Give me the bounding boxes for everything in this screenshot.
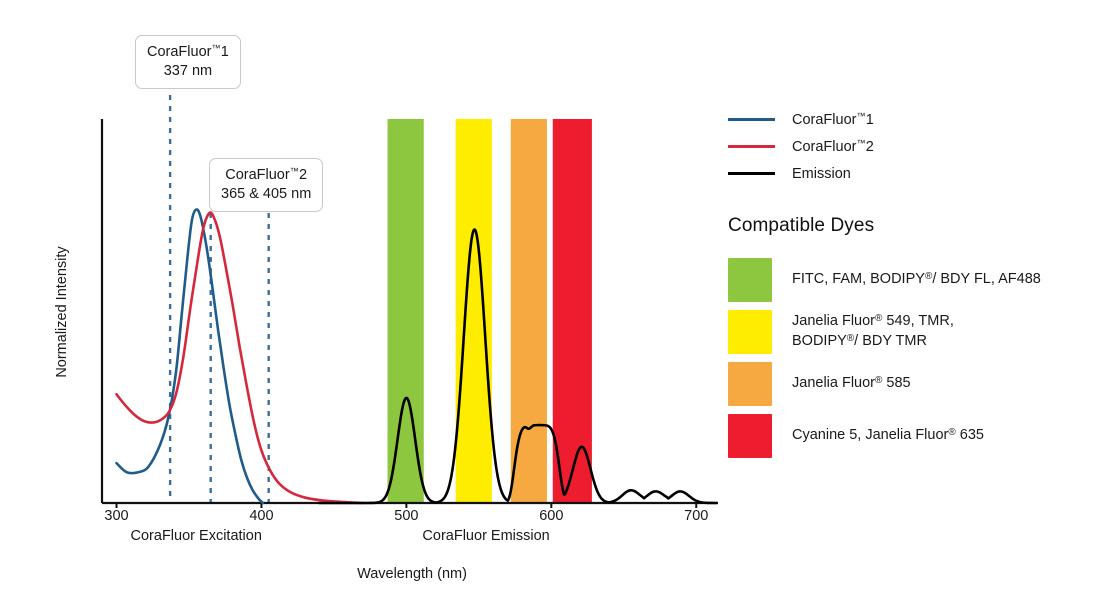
green-band [388,119,424,503]
legend-panel: CoraFluor™1CoraFluor™2Emission Compatibl… [728,106,1110,462]
legend-item-1[interactable]: CoraFluor™2 [728,133,1110,160]
dye-row-1[interactable]: Janelia Fluor® 549, TMR,BODIPY®/ BDY TMR [728,306,1110,358]
x-axis-sublabel-emission: CoraFluor Emission [422,528,549,544]
figure-root: CoraFluor™1 337 nm CoraFluor™2 365 & 405… [0,0,1110,612]
red-band [553,119,592,503]
dye-row-0[interactable]: FITC, FAM, BODIPY®/ BDY FL, AF488 [728,254,1110,306]
callout-1-line1: CoraFluor™1 [147,43,229,62]
legend-item-0[interactable]: CoraFluor™1 [728,106,1110,133]
dye-color-swatch [728,414,772,458]
orange-band [511,119,547,503]
dye-color-swatch [728,258,772,302]
trademark-mark: ™ [856,111,865,121]
dye-label-line: Janelia Fluor® 549, TMR, [792,312,954,332]
registered-mark: ® [948,427,955,438]
compatible-dyes-list: FITC, FAM, BODIPY®/ BDY FL, AF488Janelia… [728,254,1110,462]
legend-line-swatch [728,145,775,148]
x-tick-500: 500 [394,508,418,524]
compatible-dyes-heading: Compatible Dyes [728,215,1110,237]
dye-label: Janelia Fluor® 549, TMR,BODIPY®/ BDY TMR [792,312,954,351]
dye-row-2[interactable]: Janelia Fluor® 585 [728,358,1110,410]
dye-label-line: BODIPY®/ BDY TMR [792,332,954,352]
legend-line-swatch [728,118,775,121]
x-axis-sublabel-excitation: CoraFluor Excitation [131,528,262,544]
x-tick-300: 300 [104,508,128,524]
legend-item-label: Emission [792,166,851,182]
callout-1-line2: 337 nm [147,62,229,81]
legend-item-label: CoraFluor™2 [792,138,874,155]
dye-label-line: FITC, FAM, BODIPY®/ BDY FL, AF488 [792,270,1041,290]
callout-corafluor1: CoraFluor™1 337 nm [135,35,241,89]
x-tick-600: 600 [539,508,563,524]
y-axis-title: Normalized Intensity [54,246,70,377]
registered-mark: ® [875,313,882,324]
dye-label: FITC, FAM, BODIPY®/ BDY FL, AF488 [792,270,1041,290]
callout-2-line1: CoraFluor™2 [221,166,311,185]
dye-label-line: Janelia Fluor® 585 [792,374,911,394]
legend-item-2[interactable]: Emission [728,160,1110,187]
callout-corafluor2: CoraFluor™2 365 & 405 nm [209,158,323,212]
legend-item-label: CoraFluor™1 [792,111,874,128]
trademark-mark: ™ [856,138,865,148]
dye-color-swatch [728,310,772,354]
dye-row-3[interactable]: Cyanine 5, Janelia Fluor® 635 [728,410,1110,462]
dye-label-line: Cyanine 5, Janelia Fluor® 635 [792,426,984,446]
x-axis-title: Wavelength (nm) [357,566,467,582]
yellow-band [456,119,492,503]
registered-mark: ® [925,271,932,282]
emission-bands [388,119,592,503]
legend-line-swatch [728,172,775,175]
x-tick-700: 700 [684,508,708,524]
dye-label: Janelia Fluor® 585 [792,374,911,394]
registered-mark: ® [875,375,882,386]
registered-mark: ® [847,333,854,344]
series-legend: CoraFluor™1CoraFluor™2Emission [728,106,1110,187]
x-tick-400: 400 [249,508,273,524]
spectra-plot: CoraFluor™1 337 nm CoraFluor™2 365 & 405… [0,0,740,612]
dye-label: Cyanine 5, Janelia Fluor® 635 [792,426,984,446]
callout-2-line2: 365 & 405 nm [221,185,311,204]
excitation-marker-lines [170,95,269,503]
dye-color-swatch [728,362,772,406]
